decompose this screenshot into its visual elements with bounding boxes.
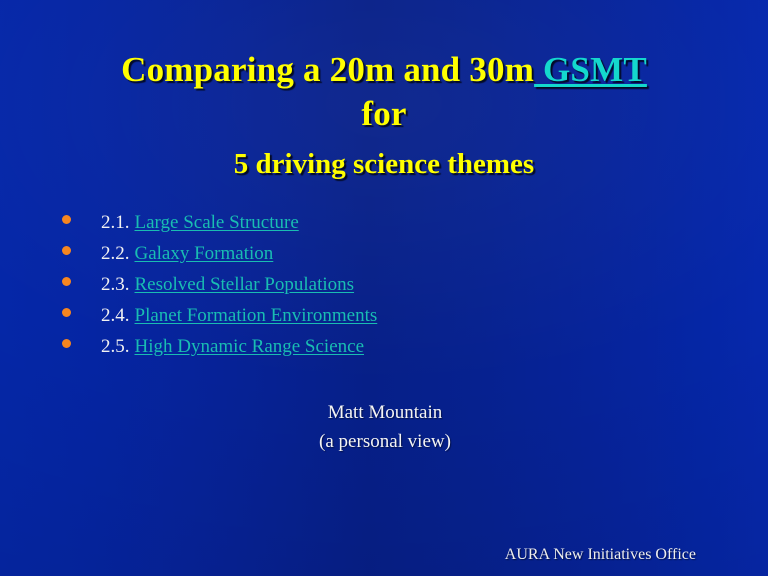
- list-item-number: 2.5.: [101, 336, 130, 358]
- bullet-dot-icon: [62, 339, 71, 348]
- list-item-link[interactable]: Planet Formation Environments: [135, 305, 378, 327]
- list-item[interactable]: 2.1. Large Scale Structure: [62, 212, 377, 243]
- slide-footer: AURA New Initiatives Office: [505, 546, 696, 564]
- science-themes-list: 2.1. Large Scale Structure 2.2. Galaxy F…: [62, 212, 377, 367]
- list-item-link[interactable]: High Dynamic Range Science: [135, 336, 365, 358]
- list-item[interactable]: 2.4. Planet Formation Environments: [62, 305, 377, 336]
- bullet-dot-icon: [62, 246, 71, 255]
- gsmt-hyperlink[interactable]: GSMT: [534, 50, 647, 89]
- list-item[interactable]: 2.3. Resolved Stellar Populations: [62, 274, 377, 305]
- title-line-1: Comparing a 20m and 30m GSMT: [0, 48, 768, 92]
- title-line-2: for: [0, 92, 768, 136]
- slide-title-block: Comparing a 20m and 30m GSMT for 5 drivi…: [0, 48, 768, 184]
- bullet-dot-icon: [62, 215, 71, 224]
- list-item-link[interactable]: Resolved Stellar Populations: [135, 274, 355, 296]
- list-item-link[interactable]: Galaxy Formation: [135, 243, 274, 265]
- author-name: Matt Mountain: [100, 398, 670, 427]
- author-note: (a personal view): [100, 427, 670, 456]
- title-line-1-text: Comparing a 20m and 30m: [121, 50, 534, 89]
- list-item-number: 2.1.: [101, 212, 130, 234]
- list-item[interactable]: 2.2. Galaxy Formation: [62, 243, 377, 274]
- author-block: Matt Mountain (a personal view): [100, 398, 670, 456]
- list-item-number: 2.2.: [101, 243, 130, 265]
- title-line-3: 5 driving science themes: [0, 144, 768, 184]
- list-item-number: 2.4.: [101, 305, 130, 327]
- list-item-link[interactable]: Large Scale Structure: [135, 212, 299, 234]
- bullet-dot-icon: [62, 308, 71, 317]
- list-item-number: 2.3.: [101, 274, 130, 296]
- bullet-dot-icon: [62, 277, 71, 286]
- presentation-slide: Comparing a 20m and 30m GSMT for 5 drivi…: [0, 0, 768, 576]
- list-item[interactable]: 2.5. High Dynamic Range Science: [62, 336, 377, 367]
